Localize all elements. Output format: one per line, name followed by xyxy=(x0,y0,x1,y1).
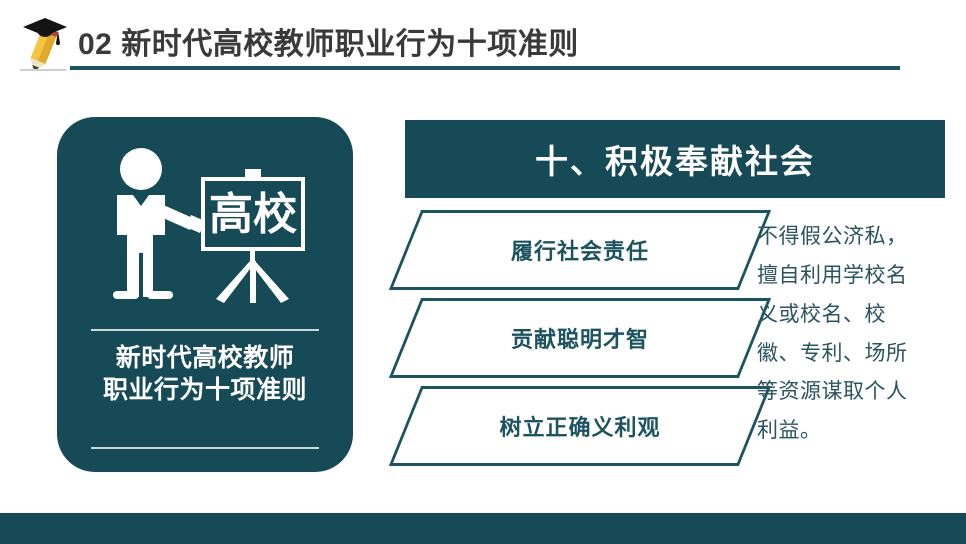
list-item-label: 贡献聪明才智 xyxy=(405,298,755,378)
page-title: 02 新时代高校教师职业行为十项准则 xyxy=(78,19,579,63)
slide-header: 02 新时代高校教师职业行为十项准则 xyxy=(0,0,966,80)
header-divider xyxy=(70,66,900,70)
detail-paragraph: 不得假公济私，擅自利用学校名义或校名、校徽、专利、场所等资源谋取个人利益。 xyxy=(757,218,922,451)
svg-text:高校: 高校 xyxy=(209,190,297,239)
point-list: 履行社会责任 贡献聪明才智 树立正确义利观 xyxy=(405,210,755,472)
card-caption-line-2: 职业行为十项准则 xyxy=(57,374,353,406)
section-title: 十、积极奉献社会 xyxy=(535,135,815,183)
list-item[interactable]: 履行社会责任 xyxy=(405,210,755,290)
card-divider-top xyxy=(91,329,319,331)
list-item-label: 树立正确义利观 xyxy=(405,386,755,466)
card-caption-line-1: 新时代高校教师 xyxy=(57,342,353,374)
card-divider-bottom xyxy=(91,447,319,449)
list-item[interactable]: 树立正确义利观 xyxy=(405,386,755,466)
section-title-band: 十、积极奉献社会 xyxy=(405,120,945,198)
left-summary-card: 高校 新时代高校教师 职业行为十项准则 xyxy=(57,117,353,472)
pencil-graduation-cap-icon xyxy=(14,12,74,74)
footer-bar xyxy=(0,513,966,544)
list-item[interactable]: 贡献聪明才智 xyxy=(405,298,755,378)
teacher-presenting-icon: 高校 xyxy=(95,143,315,305)
card-caption: 新时代高校教师 职业行为十项准则 xyxy=(57,342,353,406)
list-item-label: 履行社会责任 xyxy=(405,210,755,290)
